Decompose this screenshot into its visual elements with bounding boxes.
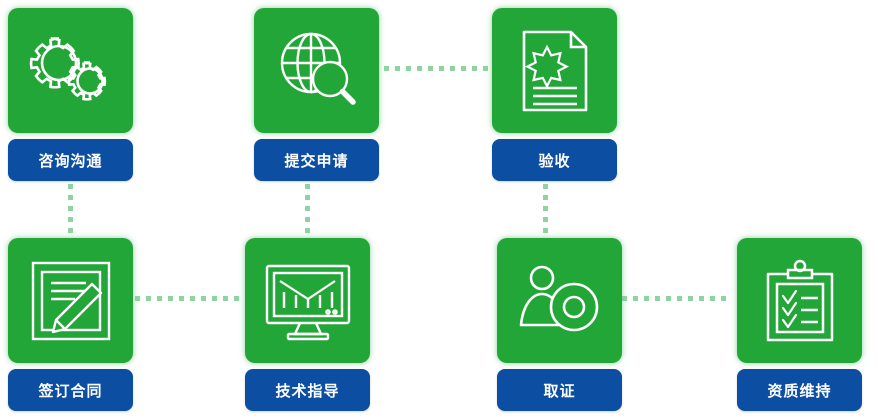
process-node-evidence[interactable]: 取证 — [497, 238, 622, 411]
process-label-evidence[interactable]: 取证 — [497, 369, 622, 411]
process-label-contract[interactable]: 签订合同 — [8, 369, 133, 411]
connector-acceptance-to-evidence — [543, 184, 548, 236]
icon-card-guidance — [245, 238, 370, 363]
process-label-maintain[interactable]: 资质维持 — [737, 369, 862, 411]
icon-card-evidence — [497, 238, 622, 363]
process-label-guidance[interactable]: 技术指导 — [245, 369, 370, 411]
globe-search-icon — [274, 28, 360, 114]
process-label-acceptance[interactable]: 验收 — [492, 139, 617, 181]
process-node-contract[interactable]: 签订合同 — [8, 238, 133, 411]
process-label-consult[interactable]: 咨询沟通 — [8, 139, 133, 181]
process-flow-diagram: 咨询沟通 提交申请 — [0, 0, 878, 420]
connector-contract-to-guidance — [135, 296, 245, 301]
gears-icon — [28, 33, 114, 109]
process-node-acceptance[interactable]: 验收 — [492, 8, 617, 181]
icon-card-maintain — [737, 238, 862, 363]
clipboard-check-icon — [760, 258, 840, 344]
connector-consult-to-contract — [68, 184, 73, 236]
icon-card-contract — [8, 238, 133, 363]
certificate-doc-icon — [516, 28, 594, 114]
icon-card-consult — [8, 8, 133, 133]
process-label-apply[interactable]: 提交申请 — [254, 139, 379, 181]
icon-card-apply — [254, 8, 379, 133]
connector-apply-to-acceptance — [384, 66, 494, 71]
connector-evidence-to-maintain — [622, 296, 732, 301]
process-node-consult[interactable]: 咨询沟通 — [8, 8, 133, 181]
document-pencil-icon — [28, 258, 114, 344]
icon-card-acceptance — [492, 8, 617, 133]
process-node-maintain[interactable]: 资质维持 — [737, 238, 862, 411]
monitor-chart-icon — [262, 261, 354, 341]
person-seal-icon — [517, 263, 603, 339]
process-node-guidance[interactable]: 技术指导 — [245, 238, 370, 411]
process-node-apply[interactable]: 提交申请 — [254, 8, 379, 181]
connector-guidance-to-apply — [305, 184, 310, 236]
